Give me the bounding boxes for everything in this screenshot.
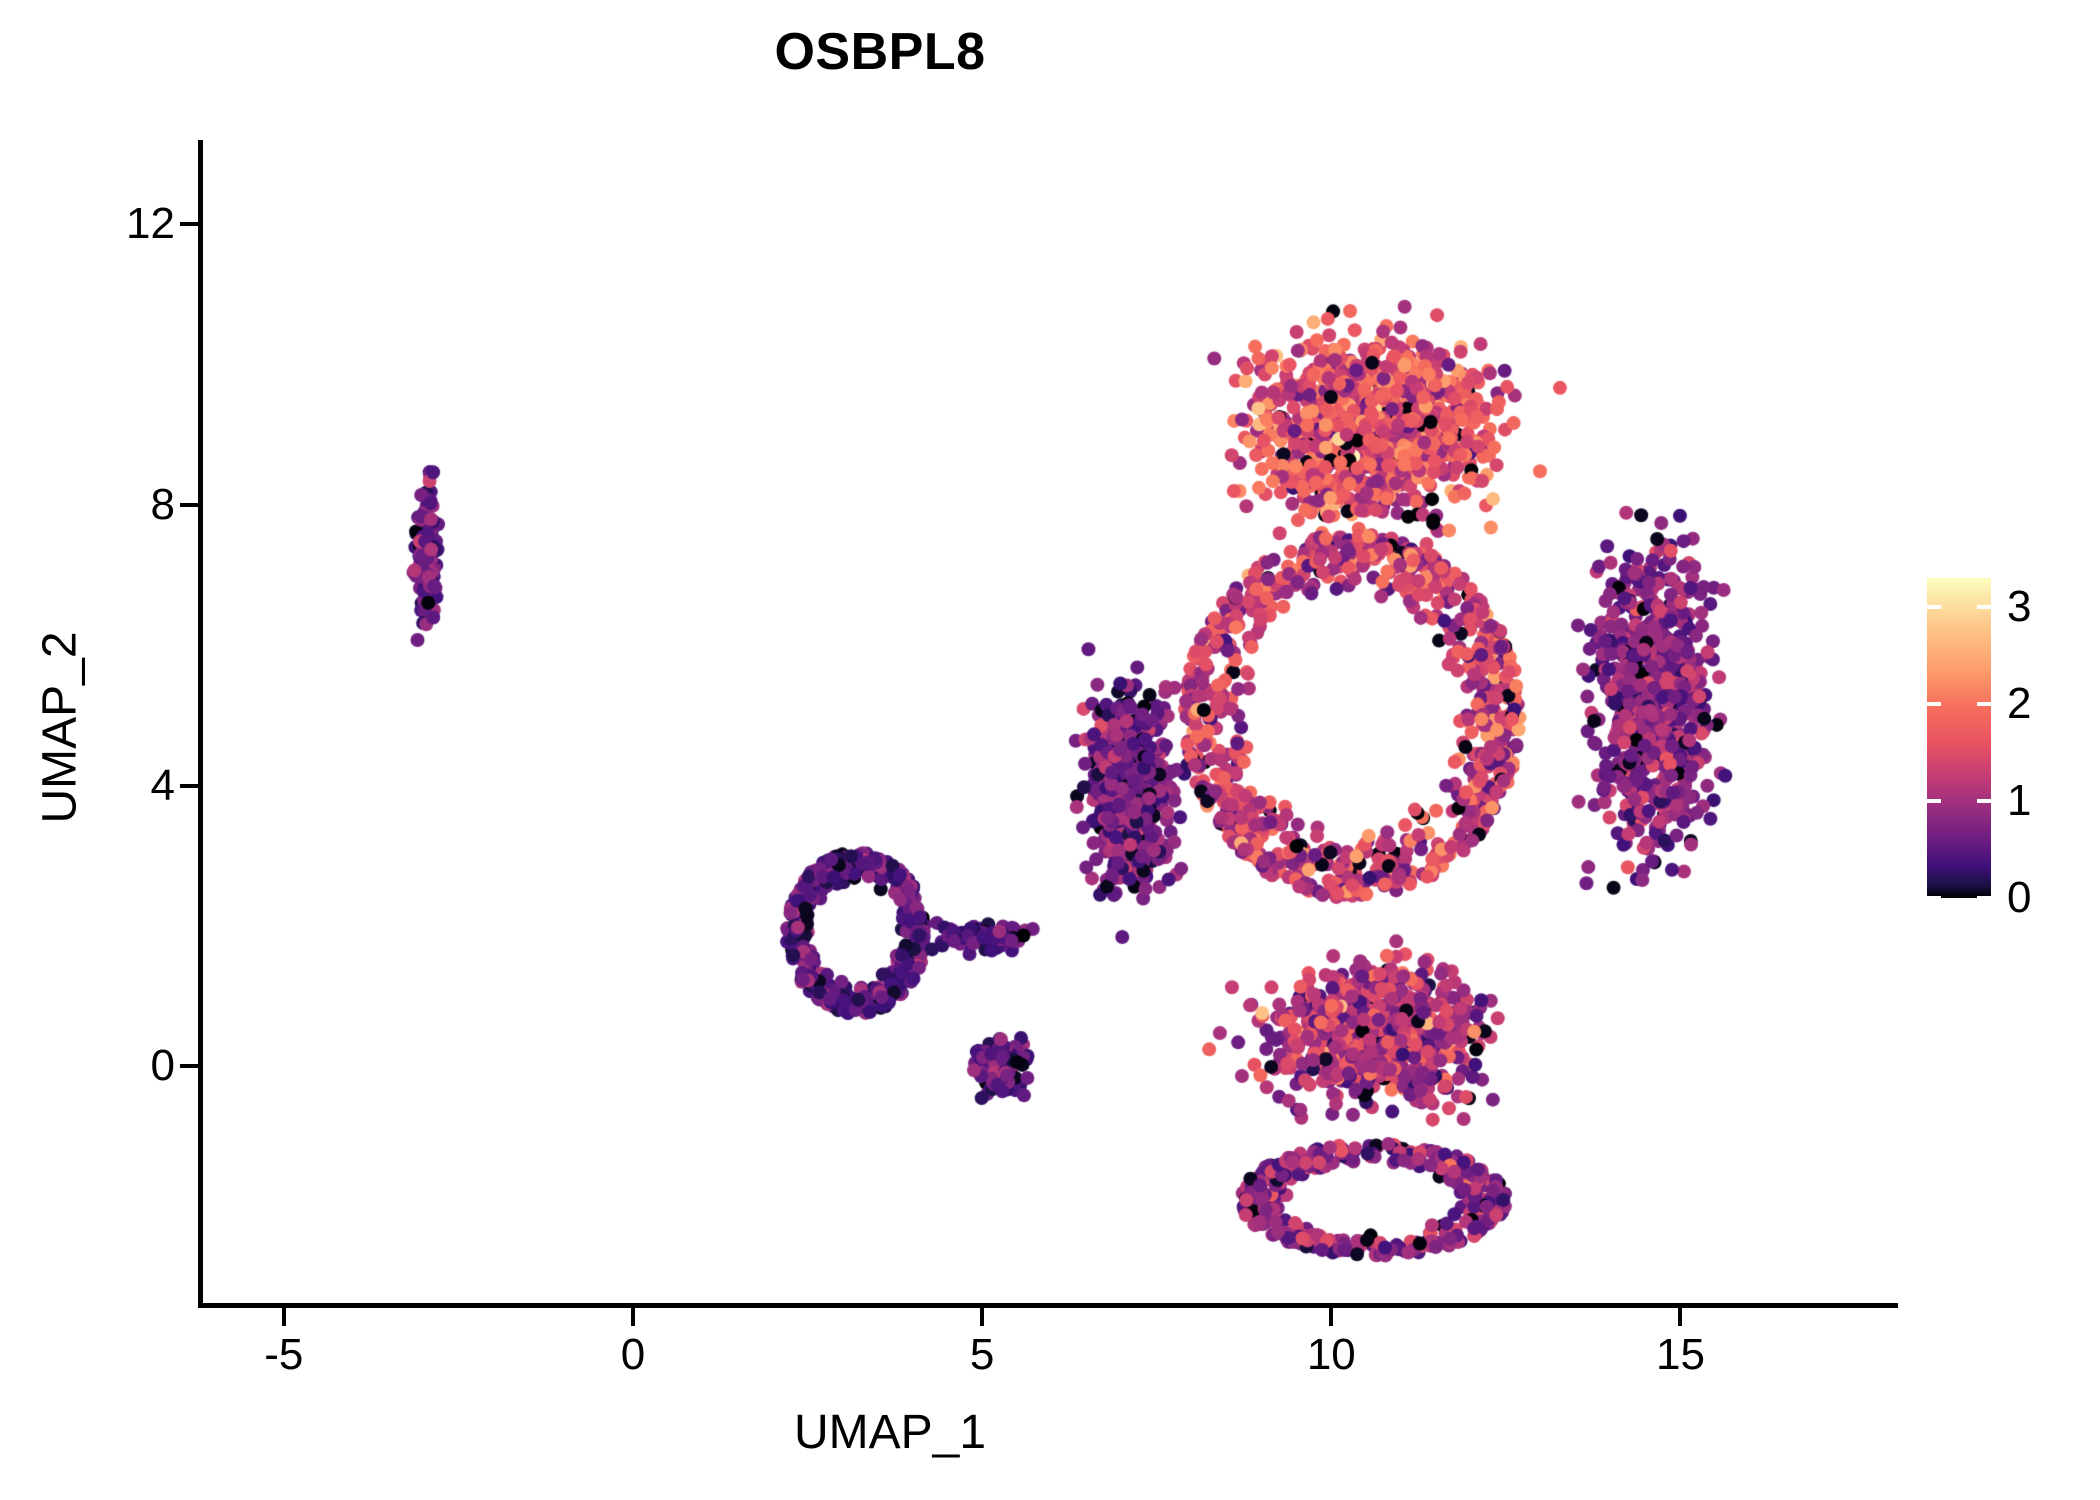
colorbar-gradient bbox=[1927, 578, 1991, 898]
colorbar-tick-mark bbox=[1977, 896, 1991, 900]
x-tick-mark bbox=[282, 1308, 286, 1326]
y-tick-mark bbox=[180, 222, 198, 226]
scatter-points bbox=[200, 140, 1890, 1305]
y-tick-label: 8 bbox=[151, 480, 175, 530]
y-tick-mark bbox=[180, 503, 198, 507]
plot-area bbox=[200, 140, 1890, 1305]
y-tick-label: 4 bbox=[151, 761, 175, 811]
colorbar-tick-mark bbox=[1977, 799, 1991, 803]
colorbar-tick-label: 1 bbox=[2007, 776, 2031, 826]
chart-root: OSBPL8 04812 -5051015 UMAP_1 UMAP_2 0123 bbox=[0, 0, 2100, 1500]
x-tick-mark bbox=[1329, 1308, 1333, 1326]
colorbar-tick-mark bbox=[1927, 799, 1941, 803]
y-tick-label: 0 bbox=[151, 1041, 175, 1091]
colorbar-tick-mark bbox=[1977, 702, 1991, 706]
chart-title: OSBPL8 bbox=[0, 22, 1760, 82]
y-tick-label: 12 bbox=[126, 199, 175, 249]
x-axis-title: UMAP_1 bbox=[540, 1405, 1240, 1460]
x-tick-mark bbox=[631, 1308, 635, 1326]
colorbar-tick-mark bbox=[1977, 605, 1991, 609]
scatter-canvas bbox=[200, 140, 1890, 1305]
x-tick-label: 5 bbox=[970, 1330, 994, 1380]
y-tick-mark bbox=[180, 1064, 198, 1068]
colorbar-tick-label: 0 bbox=[2007, 873, 2031, 923]
x-tick-label: -5 bbox=[264, 1330, 303, 1380]
x-tick-label: 0 bbox=[621, 1330, 645, 1380]
x-tick-label: 10 bbox=[1307, 1330, 1356, 1380]
colorbar-tick-mark bbox=[1927, 896, 1941, 900]
y-axis-title: UMAP_2 bbox=[33, 428, 88, 1028]
colorbar-tick-mark bbox=[1927, 605, 1941, 609]
x-tick-mark bbox=[1678, 1308, 1682, 1326]
colorbar-legend: 0123 bbox=[1927, 578, 1991, 898]
colorbar-tick-label: 2 bbox=[2007, 679, 2031, 729]
colorbar-tick-mark bbox=[1927, 702, 1941, 706]
x-tick-mark bbox=[980, 1308, 984, 1326]
y-tick-mark bbox=[180, 784, 198, 788]
colorbar-tick-label: 3 bbox=[2007, 582, 2031, 632]
x-tick-label: 15 bbox=[1656, 1330, 1705, 1380]
